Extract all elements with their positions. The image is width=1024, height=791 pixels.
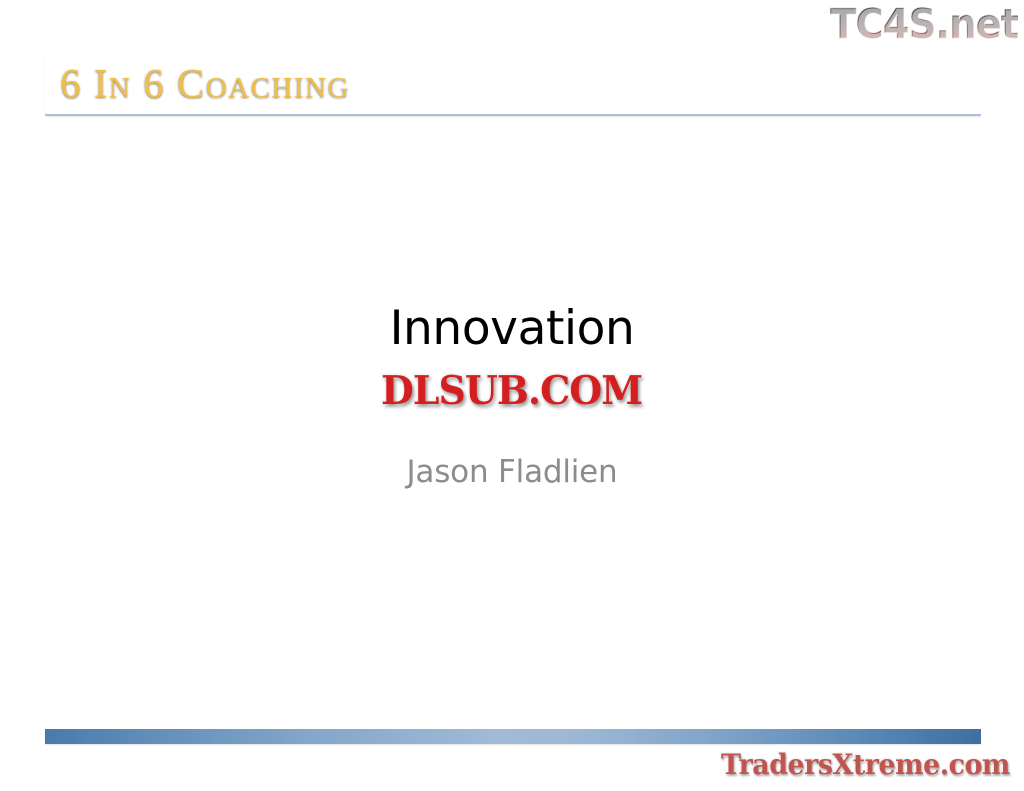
presentation-slide: TC4S.net 6 In 6 Coaching Innovation DLSU… — [0, 0, 1024, 791]
slide-header-banner: 6 In 6 Coaching — [45, 52, 981, 114]
slide-title: Innovation — [0, 300, 1024, 358]
footer-divider-rule — [45, 729, 981, 744]
tradersxtreme-watermark: TradersXtreme.com — [721, 748, 1010, 782]
dlsub-watermark: DLSUB.COM — [0, 370, 1024, 412]
slide-subtitle-presenter: Jason Fladlien — [0, 452, 1024, 492]
title-block: Innovation — [0, 300, 1024, 358]
header-banner-title: 6 In 6 Coaching — [45, 63, 350, 104]
dlsub-watermark-text: DLSUB.COM — [381, 370, 642, 412]
tc4s-logo-watermark: TC4S.net — [830, 2, 1018, 46]
